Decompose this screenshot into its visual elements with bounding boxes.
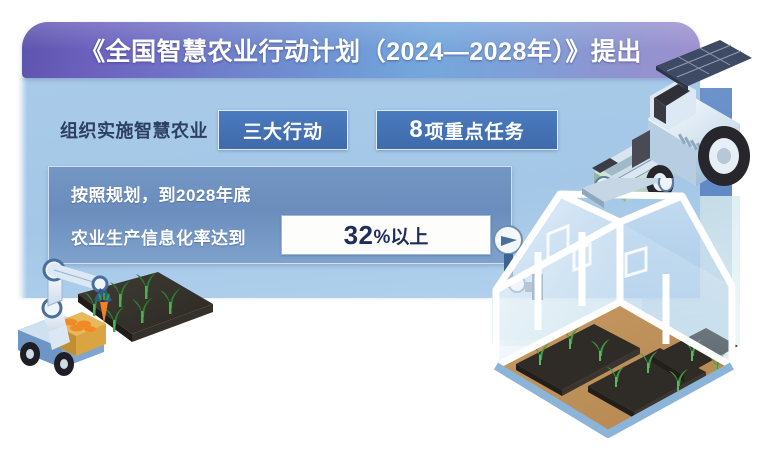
solar-panel-icon (656, 40, 752, 90)
plan-metric-number: 32 (344, 220, 374, 251)
smart-greenhouse-icon (470, 178, 768, 463)
harvesting-robot-arm-icon (8, 248, 238, 378)
chip-eight-tasks-suffix: 项重点任务 (425, 117, 525, 144)
plan-metric-suffix: %以上 (374, 222, 429, 249)
actions-row-label: 组织实施智慧农业 (60, 117, 208, 143)
chip-eight-tasks[interactable]: 8项重点任务 (376, 110, 558, 150)
plan-metric-value-box: 32%以上 (281, 215, 491, 255)
chip-three-actions[interactable]: 三大行动 (218, 110, 348, 150)
plan-timeframe-text: 按照规划，到2028年底 (71, 181, 251, 206)
infographic-canvas: 《全国智慧农业行动计划（2024—2028年）》提出 组织实施智慧农业 三大行动… (0, 0, 768, 463)
plan-metric-label: 农业生产信息化率达到 (71, 224, 246, 249)
actions-row: 组织实施智慧农业 三大行动 8项重点任务 (60, 110, 558, 150)
chip-eight-tasks-number: 8 (409, 116, 423, 144)
